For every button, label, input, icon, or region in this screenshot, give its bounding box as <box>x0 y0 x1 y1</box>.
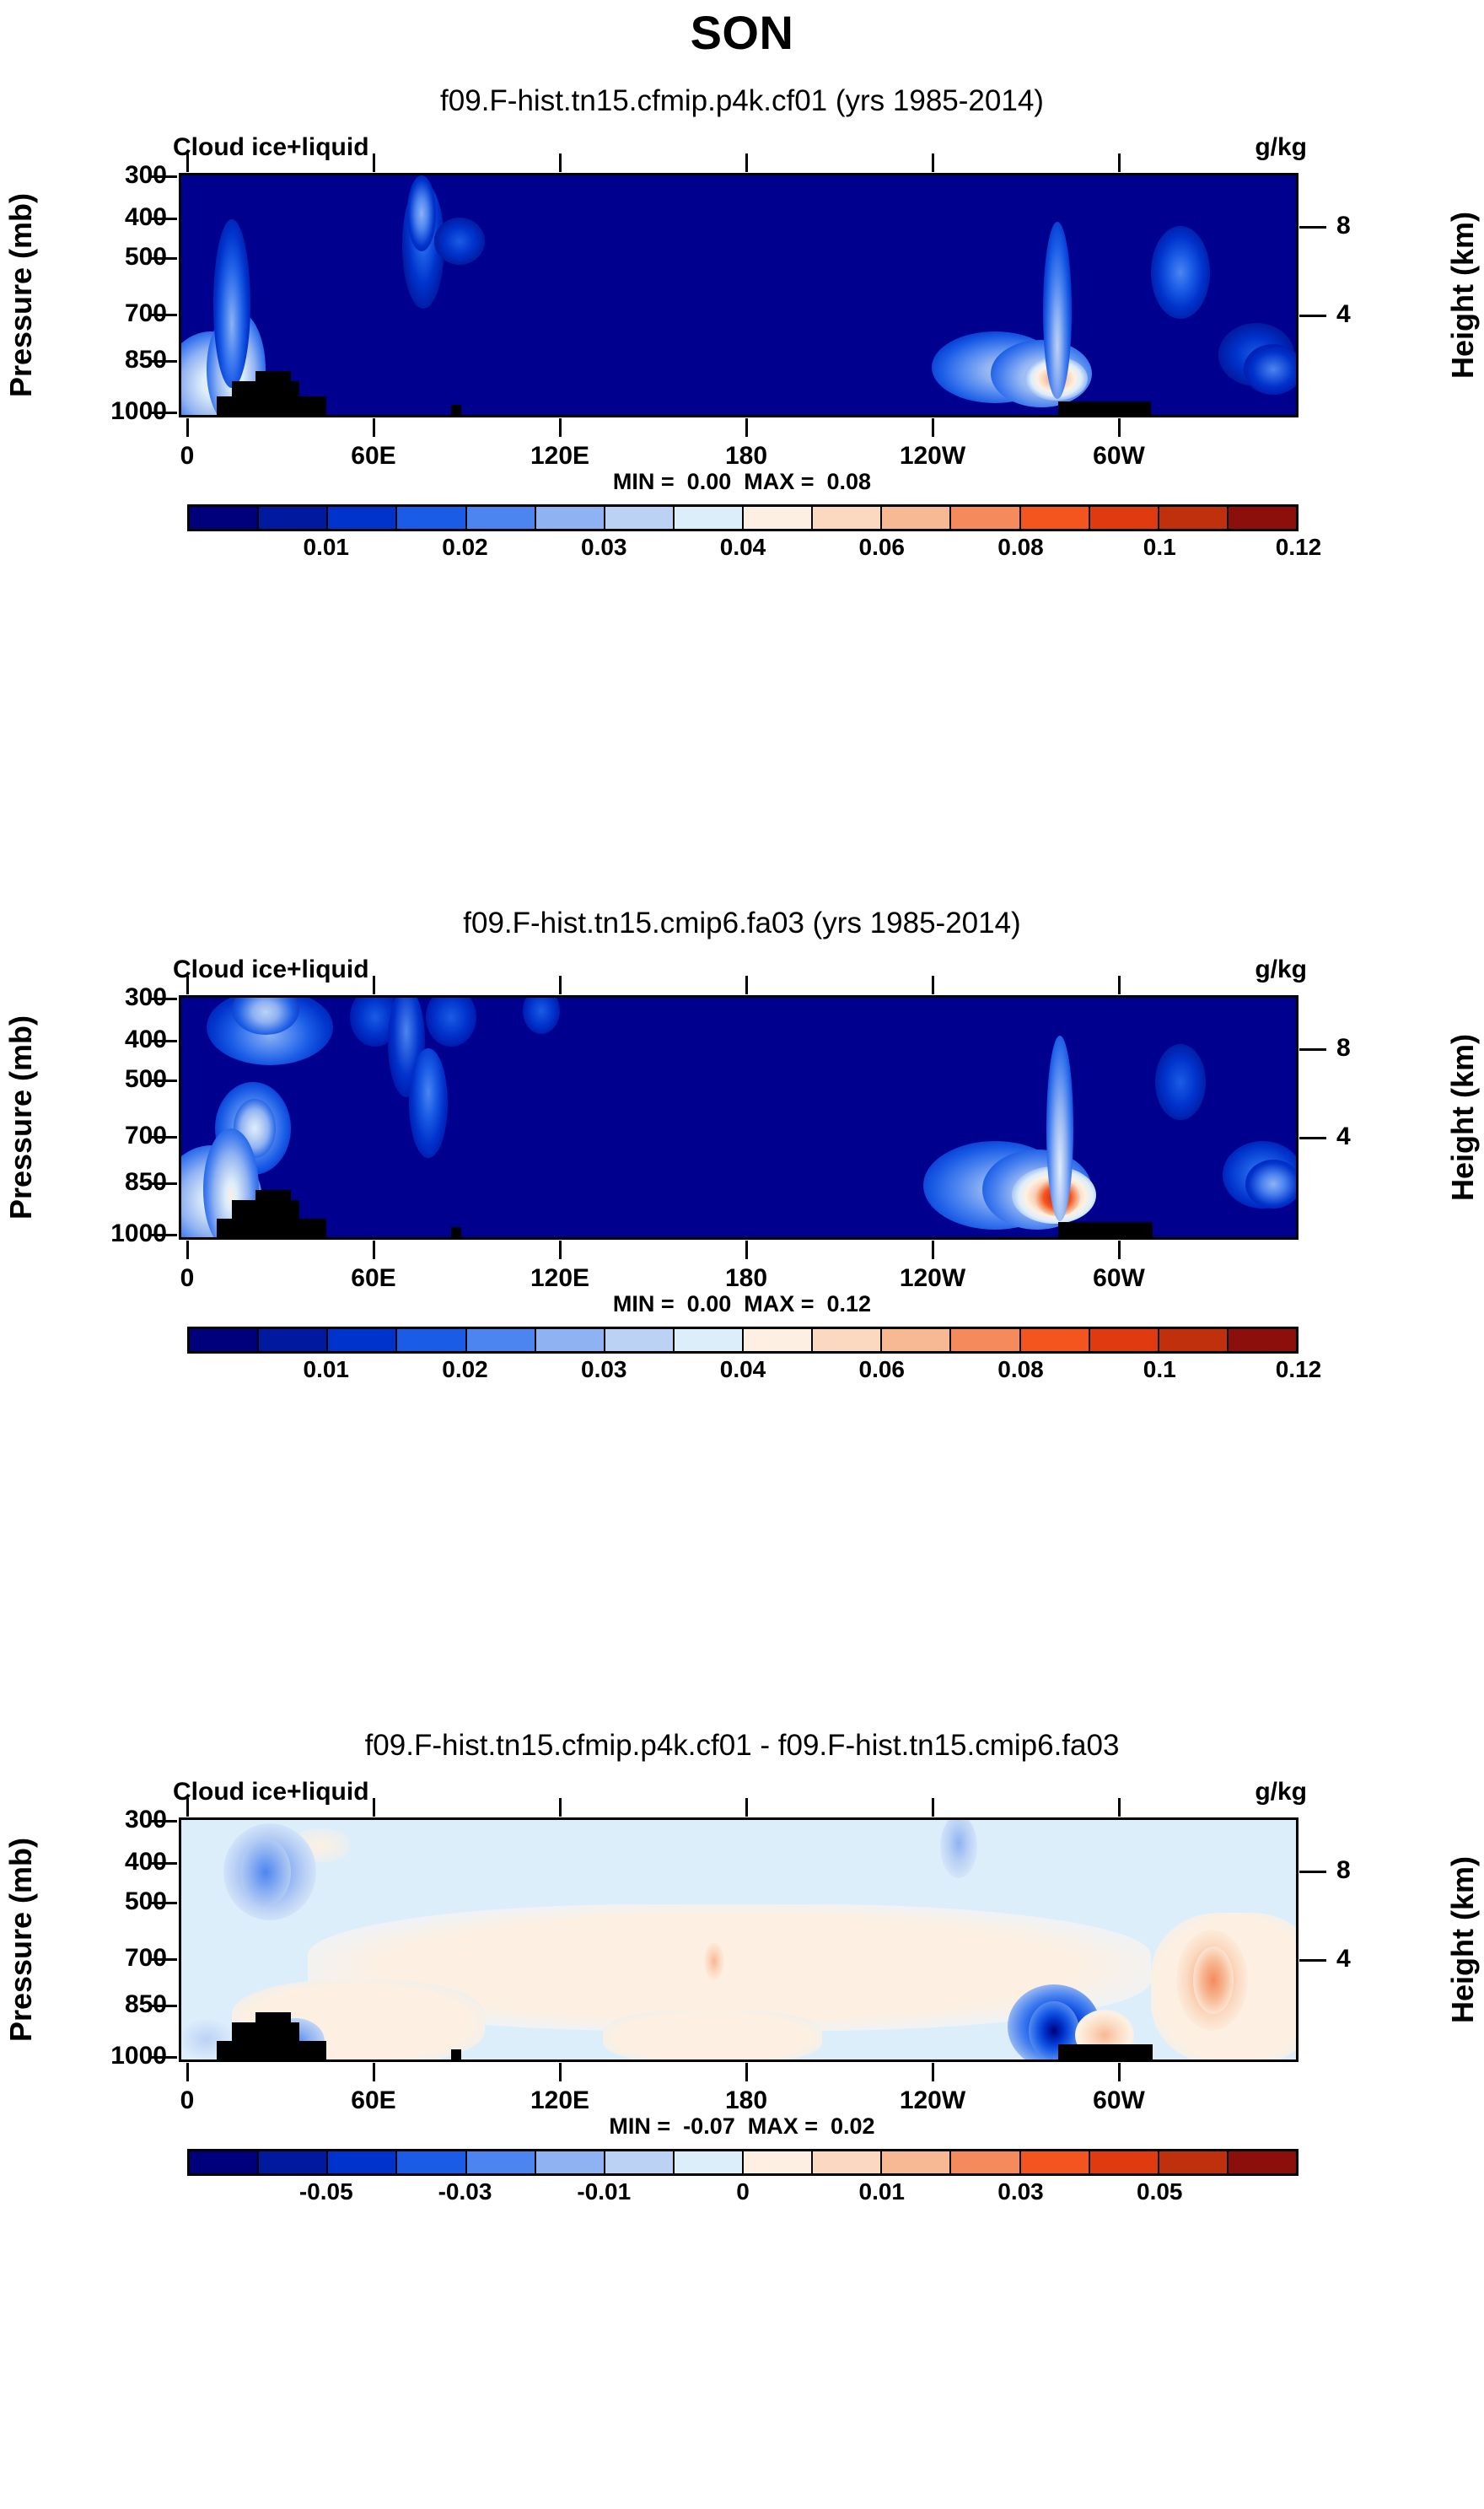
panel-2-ytick-500: 500 <box>40 1065 167 1094</box>
colorbar-cell-10[interactable] <box>882 2151 951 2173</box>
colorbar-tick-label-3: 0.04 <box>720 534 766 561</box>
panel-1-bottomtick-60E <box>373 418 375 437</box>
panel-3-toptick-120W <box>932 1798 934 1817</box>
panel-2-y2tickmark-8 <box>1299 1048 1326 1051</box>
colorbar-cell-0[interactable] <box>190 1329 259 1351</box>
panel-3-ytick-700: 700 <box>40 1944 167 1973</box>
panel-2-y2tickmark-4 <box>1299 1137 1326 1139</box>
colorbar-cell-6[interactable] <box>605 1329 675 1351</box>
panel-2-units-label: g/kg <box>1255 956 1307 984</box>
terrain-mask <box>255 1190 291 1237</box>
colorbar-cell-7[interactable] <box>675 2151 744 2173</box>
panel-2-plot-area[interactable] <box>179 995 1298 1240</box>
panel-1-colorbar[interactable]: 0.010.020.030.040.060.080.10.12 <box>187 504 1298 568</box>
colorbar-tick-label-5: 0.03 <box>997 2178 1044 2205</box>
panel-1-toptick-120W <box>932 153 934 172</box>
panel-2-bottomtick-60E <box>373 1241 375 1259</box>
colorbar-cell-3[interactable] <box>397 507 466 529</box>
colorbar-tick-label-1: 0.02 <box>442 534 488 561</box>
panel-3-bottomtick-120E <box>559 2063 562 2081</box>
colorbar-cell-8[interactable] <box>744 1329 813 1351</box>
terrain-mask <box>451 1227 461 1237</box>
panel-1-y2tickmark-4 <box>1299 315 1326 317</box>
colorbar-tick-label-2: 0.03 <box>581 534 627 561</box>
colorbar-tick-label-4: 0.06 <box>859 534 906 561</box>
panel-2-colorbar-strip[interactable] <box>187 1327 1298 1354</box>
colorbar-tick-label-1: 0.02 <box>442 1356 488 1383</box>
terrain-mask <box>1058 401 1151 415</box>
colorbar-cell-14[interactable] <box>1159 1329 1229 1351</box>
panel-2-toptick-180 <box>745 976 748 994</box>
panel-3-ytick-1000: 1000 <box>40 2042 167 2070</box>
colorbar-cell-13[interactable] <box>1090 1329 1159 1351</box>
colorbar-cell-7[interactable] <box>675 1329 744 1351</box>
panel-1-ytick-850: 850 <box>40 346 167 374</box>
panel-3-xtick-120W: 120W <box>900 2086 965 2115</box>
colorbar-cell-10[interactable] <box>882 507 951 529</box>
colorbar-cell-11[interactable] <box>951 507 1020 529</box>
panel-2-colorbar[interactable]: 0.010.020.030.040.060.080.10.12 <box>187 1327 1298 1390</box>
colorbar-tick-label-1: -0.03 <box>438 2178 492 2205</box>
panel-2-ytickmark-300 <box>150 998 177 1000</box>
panel-2-toptick-60E <box>373 976 375 994</box>
colorbar-cell-15[interactable] <box>1229 2151 1296 2173</box>
panel-3-xtick-60E: 60E <box>351 2086 395 2115</box>
panel-3-xtick-120E: 120E <box>530 2086 589 2115</box>
colorbar-cell-14[interactable] <box>1159 507 1229 529</box>
panel-3-y2-axis-title: Height (km) <box>1444 1817 1482 2062</box>
colorbar-tick-label-0: 0.01 <box>304 1356 350 1383</box>
panel-1-ytickmark-300 <box>150 175 177 178</box>
y-axis-title-text: Pressure (mb) <box>3 193 39 397</box>
panel-2-toptick-60W <box>1118 976 1121 994</box>
panel-2-bottomtick-60W <box>1118 1241 1121 1259</box>
colorbar-cell-10[interactable] <box>882 1329 951 1351</box>
panel-2-field-label: Cloud ice+liquid <box>173 956 369 984</box>
panel-2-title: f09.F-hist.tn15.cmip6.fa03 (yrs 1985-201… <box>0 907 1484 940</box>
colorbar-cell-9[interactable] <box>813 507 882 529</box>
panel-3-colorbar-labels: -0.05-0.03-0.0100.010.030.05 <box>187 2178 1298 2212</box>
colorbar-cell-13[interactable] <box>1090 2151 1159 2173</box>
colorbar-tick-label-0: 0.01 <box>304 534 350 561</box>
y-axis-title-text: Pressure (mb) <box>3 1015 39 1220</box>
panel-2-toptick-120E <box>559 976 562 994</box>
colorbar-cell-3[interactable] <box>397 2151 466 2173</box>
colorbar-cell-1[interactable] <box>259 1329 328 1351</box>
panel-3-ytickmark-400 <box>150 1862 177 1865</box>
panel-1-xtick-60W: 60W <box>1093 442 1145 471</box>
colorbar-cell-11[interactable] <box>951 2151 1020 2173</box>
panel-2-minmax: MIN = 0.00 MAX = 0.12 <box>0 1291 1484 1317</box>
colorbar-cell-5[interactable] <box>536 1329 605 1351</box>
panel-3-y2tickmark-8 <box>1299 1871 1326 1873</box>
colorbar-cell-4[interactable] <box>467 1329 536 1351</box>
panel-2-ytickmark-700 <box>150 1136 177 1139</box>
panel-3-ytick-400: 400 <box>40 1848 167 1876</box>
panel-1-ytickmark-400 <box>150 218 177 220</box>
panel-1-y2tick-4: 4 <box>1336 300 1351 329</box>
colorbar-tick-label-7: 0.12 <box>1276 1356 1322 1383</box>
colorbar-tick-label-6: 0.1 <box>1143 1356 1176 1383</box>
panel-1-y2tickmark-8 <box>1299 226 1326 229</box>
terrain-mask <box>255 2012 291 2059</box>
panel-1-xtick-180: 180 <box>725 442 767 471</box>
colorbar-tick-label-3: 0 <box>736 2178 750 2205</box>
colorbar-cell-3[interactable] <box>397 1329 466 1351</box>
panel-1-ytick-400: 400 <box>40 203 167 232</box>
y2-axis-title-text: Height (km) <box>1445 212 1481 379</box>
panel-2-xtick-120W: 120W <box>900 1264 965 1293</box>
panel-1-colorbar-labels: 0.010.020.030.040.060.080.10.12 <box>187 534 1298 568</box>
page-title: SON <box>0 5 1484 60</box>
panel-2-xtick-0: 0 <box>180 1264 195 1293</box>
colorbar-tick-label-6: 0.1 <box>1143 534 1176 561</box>
panel-2-toptick-0 <box>186 976 189 994</box>
colorbar-cell-5[interactable] <box>536 2151 605 2173</box>
colorbar-cell-4[interactable] <box>467 2151 536 2173</box>
colorbar-cell-1[interactable] <box>259 507 328 529</box>
panel-2-toptick-120W <box>932 976 934 994</box>
panel-2-bottomtick-0 <box>186 1241 189 1259</box>
panel-1-toptick-60E <box>373 153 375 172</box>
panel-2-y2-axis-title: Height (km) <box>1444 995 1482 1240</box>
panel-3-toptick-120E <box>559 1798 562 1817</box>
panel-3-bottomtick-180 <box>745 2063 748 2081</box>
panel-2-xtick-120E: 120E <box>530 1264 589 1293</box>
panel-1-toptick-120E <box>559 153 562 172</box>
panel-3-field-label: Cloud ice+liquid <box>173 1778 369 1806</box>
panel-3-xtick-180: 180 <box>725 2086 767 2115</box>
panel-1-plot-area[interactable] <box>179 173 1298 417</box>
panel-3-toptick-0 <box>186 1798 189 1817</box>
panel-2-ytick-400: 400 <box>40 1026 167 1054</box>
panel-1-y2-axis-title: Height (km) <box>1444 173 1482 417</box>
colorbar-cell-6[interactable] <box>605 2151 675 2173</box>
panel-1-ytick-700: 700 <box>40 299 167 328</box>
panel-2-bottomtick-120E <box>559 1241 562 1259</box>
panel-3-ytickmark-700 <box>150 1958 177 1961</box>
panel-1-bottomtick-60W <box>1118 418 1121 437</box>
colorbar-cell-11[interactable] <box>951 1329 1020 1351</box>
terrain-mask <box>451 2049 461 2059</box>
panel-1-bottomtick-0 <box>186 418 189 437</box>
colorbar-cell-13[interactable] <box>1090 507 1159 529</box>
panel-2-xtick-60E: 60E <box>351 1264 395 1293</box>
panel-2-bottomtick-180 <box>745 1241 748 1259</box>
panel-3-ytick-300: 300 <box>40 1806 167 1834</box>
terrain-mask <box>451 405 461 415</box>
y-axis-title-text: Pressure (mb) <box>3 1838 39 2042</box>
colorbar-cell-7[interactable] <box>675 507 744 529</box>
colorbar-tick-label-6: 0.05 <box>1137 2178 1183 2205</box>
colorbar-tick-label-4: 0.01 <box>859 2178 906 2205</box>
panel-2-xtick-180: 180 <box>725 1264 767 1293</box>
panel-1-units-label: g/kg <box>1255 133 1307 162</box>
panel-1-toptick-60W <box>1118 153 1121 172</box>
panel-1-ytickmark-850 <box>150 360 177 363</box>
panel-1-ytick-1000: 1000 <box>40 397 167 426</box>
panel-2-ytick-850: 850 <box>40 1168 167 1197</box>
panel-3-colorbar-strip[interactable] <box>187 2149 1298 2176</box>
terrain-mask <box>1058 2044 1153 2059</box>
colorbar-cell-8[interactable] <box>744 507 813 529</box>
colorbar-cell-5[interactable] <box>536 507 605 529</box>
panel-2-y-axis-title: Pressure (mb) <box>2 995 40 1240</box>
panel-3-y2tickmark-4 <box>1299 1959 1326 1962</box>
colorbar-tick-label-5: 0.08 <box>997 534 1044 561</box>
panel-3-toptick-180 <box>745 1798 748 1817</box>
panel-3-toptick-60W <box>1118 1798 1121 1817</box>
colorbar-cell-0[interactable] <box>190 507 259 529</box>
panel-1-contour-field <box>181 175 1296 415</box>
panel-1-title: f09.F-hist.tn15.cfmip.p4k.cf01 (yrs 1985… <box>0 84 1484 118</box>
panel-3-bottomtick-60W <box>1118 2063 1121 2081</box>
colorbar-cell-6[interactable] <box>605 507 675 529</box>
colorbar-cell-0[interactable] <box>190 2151 259 2173</box>
colorbar-tick-label-7: 0.12 <box>1276 534 1322 561</box>
panel-1-minmax: MIN = 0.00 MAX = 0.08 <box>0 469 1484 495</box>
panel-2-ytickmark-400 <box>150 1040 177 1042</box>
colorbar-cell-2[interactable] <box>328 507 397 529</box>
y2-axis-title-text: Height (km) <box>1445 1034 1481 1201</box>
colorbar-tick-label-0: -0.05 <box>299 2178 353 2205</box>
colorbar-cell-15[interactable] <box>1229 507 1296 529</box>
colorbar-cell-2[interactable] <box>328 1329 397 1351</box>
colorbar-cell-12[interactable] <box>1021 1329 1090 1351</box>
colorbar-cell-2[interactable] <box>328 2151 397 2173</box>
panel-3-ytickmark-500 <box>150 1902 177 1904</box>
panel-3-title: f09.F-hist.tn15.cfmip.p4k.cf01 - f09.F-h… <box>0 1729 1484 1763</box>
panel-3-xtick-60W: 60W <box>1093 2086 1145 2115</box>
colorbar-cell-4[interactable] <box>467 507 536 529</box>
panel-2-xtick-60W: 60W <box>1093 1264 1145 1293</box>
panel-2-ytickmark-500 <box>150 1080 177 1082</box>
colorbar-tick-label-2: 0.03 <box>581 1356 627 1383</box>
panel-3-ytickmark-300 <box>150 1820 177 1823</box>
panel-1-ytickmark-500 <box>150 257 177 260</box>
panel-1-xtick-60E: 60E <box>351 442 395 471</box>
panel-1-toptick-180 <box>745 153 748 172</box>
panel-2-y2tick-8: 8 <box>1336 1034 1351 1063</box>
panel-2-y2tick-4: 4 <box>1336 1123 1351 1151</box>
panel-3-minmax: MIN = -0.07 MAX = 0.02 <box>0 2113 1484 2140</box>
panel-1-field-label: Cloud ice+liquid <box>173 133 369 162</box>
panel-3-ytickmark-850 <box>150 2005 177 2007</box>
colorbar-tick-label-4: 0.06 <box>859 1356 906 1383</box>
panel-2-bottomtick-120W <box>932 1241 934 1259</box>
panel-1-colorbar-strip[interactable] <box>187 504 1298 531</box>
colorbar-cell-12[interactable] <box>1021 507 1090 529</box>
panel-3-y2tick-4: 4 <box>1336 1945 1351 1973</box>
panel-1-bottomtick-120W <box>932 418 934 437</box>
colorbar-cell-8[interactable] <box>744 2151 813 2173</box>
panel-1-ytick-300: 300 <box>40 161 167 190</box>
panel-3-y2tick-8: 8 <box>1336 1856 1351 1885</box>
panel-3-xtick-0: 0 <box>180 2086 195 2115</box>
panel-3-ytick-850: 850 <box>40 1990 167 2019</box>
panel-2-contour-field <box>181 998 1296 1237</box>
panel-1-xtick-120E: 120E <box>530 442 589 471</box>
panel-3-toptick-60E <box>373 1798 375 1817</box>
panel-1-toptick-0 <box>186 153 189 172</box>
panel-3-units-label: g/kg <box>1255 1778 1307 1806</box>
colorbar-cell-12[interactable] <box>1021 2151 1090 2173</box>
colorbar-cell-9[interactable] <box>813 2151 882 2173</box>
panel-3-bottomtick-60E <box>373 2063 375 2081</box>
panel-2-ytickmark-850 <box>150 1182 177 1185</box>
panel-1-ytickmark-700 <box>150 314 177 316</box>
panel-3-y-axis-title: Pressure (mb) <box>2 1817 40 2062</box>
panel-1-y-axis-title: Pressure (mb) <box>2 173 40 417</box>
colorbar-cell-15[interactable] <box>1229 1329 1296 1351</box>
terrain-mask <box>255 371 291 415</box>
colorbar-cell-14[interactable] <box>1159 2151 1229 2173</box>
panel-3-contour-field <box>181 1820 1296 2059</box>
colorbar-tick-label-3: 0.04 <box>720 1356 766 1383</box>
panel-2-ytick-1000: 1000 <box>40 1220 167 1248</box>
panel-1-bottomtick-120E <box>559 418 562 437</box>
y2-axis-title-text: Height (km) <box>1445 1856 1481 2023</box>
panel-2-ytick-700: 700 <box>40 1122 167 1150</box>
colorbar-tick-label-2: -0.01 <box>577 2178 631 2205</box>
colorbar-cell-1[interactable] <box>259 2151 328 2173</box>
panel-1-xtick-0: 0 <box>180 442 195 471</box>
panel-3-ytickmark-1000 <box>150 2056 177 2059</box>
panel-1-bottomtick-180 <box>745 418 748 437</box>
panel-3-bottomtick-0 <box>186 2063 189 2081</box>
panel-1-y2tick-8: 8 <box>1336 212 1351 240</box>
terrain-mask <box>1058 1222 1153 1237</box>
panel-1-ytick-500: 500 <box>40 243 167 272</box>
panel-3-colorbar[interactable]: -0.05-0.03-0.0100.010.030.05 <box>187 2149 1298 2212</box>
panel-2-ytick-300: 300 <box>40 983 167 1012</box>
panel-3-ytick-500: 500 <box>40 1887 167 1916</box>
panel-3-bottomtick-120W <box>932 2063 934 2081</box>
panel-2-colorbar-labels: 0.010.020.030.040.060.080.10.12 <box>187 1356 1298 1390</box>
panel-2-ytickmark-1000 <box>150 1234 177 1236</box>
colorbar-tick-label-5: 0.08 <box>997 1356 1044 1383</box>
panel-3-plot-area[interactable] <box>179 1817 1298 2062</box>
panel-1-xtick-120W: 120W <box>900 442 965 471</box>
colorbar-cell-9[interactable] <box>813 1329 882 1351</box>
panel-1-ytickmark-1000 <box>150 412 177 414</box>
